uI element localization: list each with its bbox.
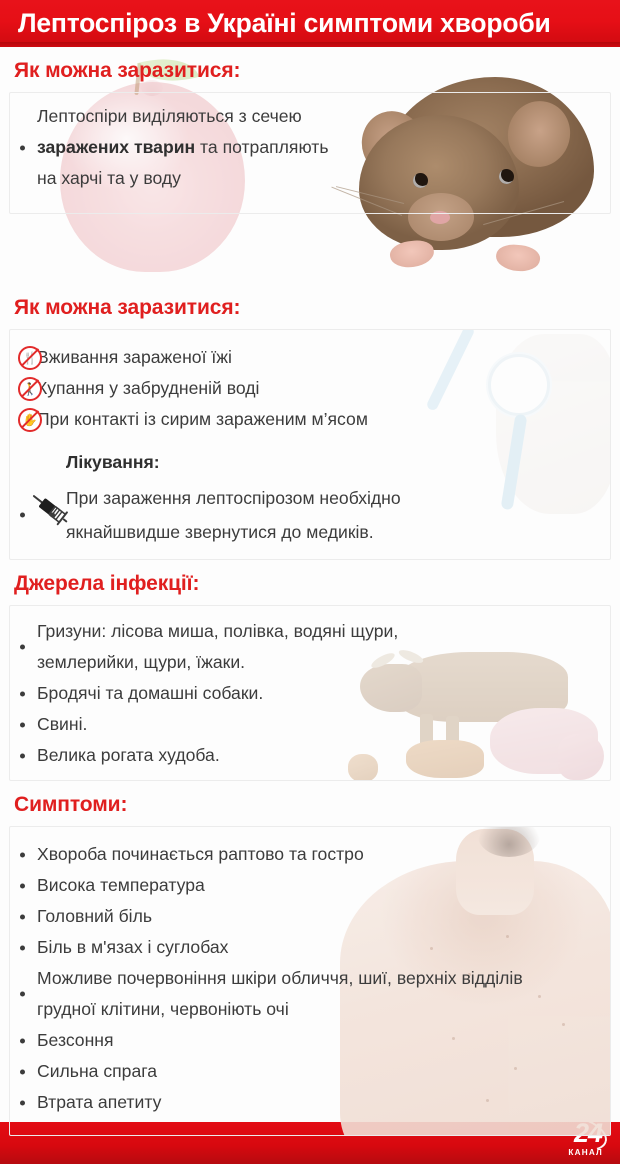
list-item-text: Висока температура	[37, 875, 205, 895]
no-food-icon: 🍴	[18, 346, 42, 370]
syringe-icon	[24, 489, 72, 529]
list-item-text: Купання у забрудненій воді	[37, 378, 259, 398]
list-item-text: Втрата апетиту	[37, 1092, 161, 1112]
page-title: Лептоспіроз в Україні симптоми хвороби	[18, 8, 551, 39]
no-swimming-icon: 🚶	[18, 377, 42, 401]
card-transmission-2: 🍴 Вживання зараженої їжі 🚶 Купання у заб…	[9, 329, 611, 560]
list-item-text: Можливе почервоніння шкіри обличчя, шиї,…	[37, 968, 523, 1019]
list-item: Безсоння	[10, 1025, 610, 1056]
mouse-paw-right	[495, 243, 541, 273]
section-sources: Джерела інфекції: Гризуни: лісо	[0, 560, 620, 781]
section-symptoms: Симптоми: Хвороба починається раптово та…	[0, 781, 620, 1136]
section-heading-transmission-1: Як можна заразитися:	[0, 47, 620, 92]
section-transmission-2: Як можна заразитися: 🍴 Вживання заражено…	[0, 284, 620, 560]
section-transmission-1: Як можна заразитися: Лептоспіри виділяют…	[0, 47, 620, 284]
list-item-text: При зараження лептоспірозом необхідно як…	[66, 488, 401, 542]
treatment-list: При зараження лептоспірозом необхідно як…	[10, 481, 610, 559]
list-item-text: При контакті із сирим зараженим м’ясом	[37, 409, 368, 429]
list-item: Біль в м'язах і суглобах	[10, 932, 610, 963]
section-heading-symptoms: Симптоми:	[0, 781, 620, 826]
list-item-text: Хвороба починається раптово та гостро	[37, 844, 364, 864]
card-symptoms: Хвороба починається раптово та гостро Ви…	[9, 826, 611, 1136]
list-item: 🍴 Вживання зараженої їжі	[10, 342, 610, 373]
transmission-2-list: 🍴 Вживання зараженої їжі 🚶 Купання у заб…	[10, 330, 610, 445]
no-touch-icon: ✋	[18, 408, 42, 432]
list-item-text: Велика рогата худоба.	[37, 745, 220, 765]
list-item: Свині.	[10, 709, 610, 740]
list-item: Гризуни: лісова миша, полівка, водяні щу…	[10, 616, 610, 678]
infographic-page: Лептоспіроз в Україні симптоми хвороби	[0, 0, 620, 1164]
list-item: Хвороба починається раптово та гостро	[10, 839, 610, 870]
treatment-subheading: Лікування:	[10, 445, 610, 481]
list-item: Лептоспіри виділяються з сечею заражених…	[10, 101, 610, 194]
logo-word: КАНАЛ	[568, 1148, 603, 1157]
list-item-text: Бродячі та домашні собаки.	[37, 683, 263, 703]
section-heading-transmission-2: Як можна заразитися:	[0, 284, 620, 329]
list-item-text: Вживання зараженої їжі	[37, 347, 232, 367]
list-item-text: Біль в м'язах і суглобах	[37, 937, 228, 957]
transmission-1-list: Лептоспіри виділяються з сечею заражених…	[10, 101, 610, 194]
list-item-text: Сильна спрага	[37, 1061, 157, 1081]
list-item-text: Головний біль	[37, 906, 152, 926]
list-item-text: Безсоння	[37, 1030, 114, 1050]
list-item: ✋ При контакті із сирим зараженим м’ясом	[10, 404, 610, 435]
list-item: При зараження лептоспірозом необхідно як…	[10, 481, 610, 549]
list-item: Сильна спрага	[10, 1056, 610, 1087]
list-item-text: Свині.	[37, 714, 87, 734]
bullet-dot	[50, 513, 55, 518]
list-item: Велика рогата худоба.	[10, 740, 610, 771]
list-item-text: Гризуни: лісова миша, полівка, водяні щу…	[37, 621, 398, 672]
card-sources: Гризуни: лісова миша, полівка, водяні щу…	[9, 605, 611, 781]
list-item: Бродячі та домашні собаки.	[10, 678, 610, 709]
list-item: Головний біль	[10, 901, 610, 932]
list-item-text-emphasis: заражених тварин	[37, 137, 195, 157]
section-heading-sources: Джерела інфекції:	[0, 560, 620, 605]
list-item: 🚶 Купання у забрудненій воді	[10, 373, 610, 404]
list-item-text-part: Лептоспіри виділяються з сечею	[37, 106, 302, 126]
page-header: Лептоспіроз в Україні симптоми хвороби	[0, 0, 620, 47]
mouse-paw-left	[388, 238, 435, 270]
list-item: Можливе почервоніння шкіри обличчя, шиї,…	[10, 963, 610, 1025]
sources-list: Гризуни: лісова миша, полівка, водяні щу…	[10, 606, 610, 780]
list-item: Втрата апетиту	[10, 1087, 610, 1118]
symptoms-list: Хвороба починається раптово та гостро Ви…	[10, 827, 610, 1132]
list-item: Висока температура	[10, 870, 610, 901]
card-transmission-1: Лептоспіри виділяються з сечею заражених…	[9, 92, 611, 214]
